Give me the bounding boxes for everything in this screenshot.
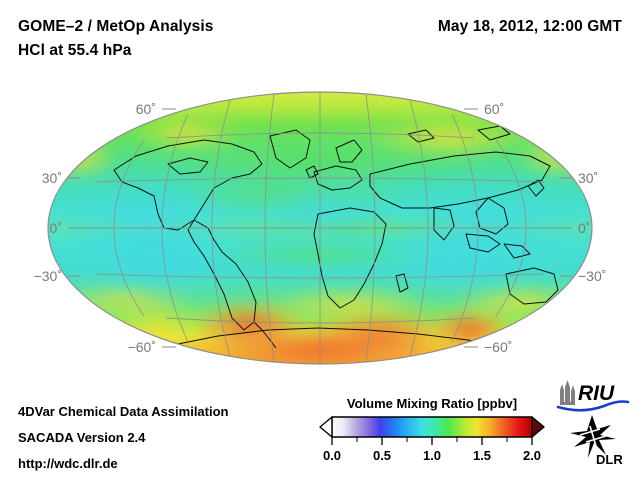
footer-url-link[interactable]: http://wdc.dlr.de: [18, 456, 118, 471]
figure-root: GOME–2 / MetOp Analysis HCl at 55.4 hPa …: [0, 0, 640, 480]
page-title: GOME–2 / MetOp Analysis: [18, 18, 214, 36]
lat-label-inner-60n-right: 60˚: [484, 101, 504, 117]
riu-logo: RIU: [556, 378, 630, 412]
lat-label-inner-60n: 60˚: [136, 101, 156, 117]
map-panel: 30˚ 0˚ −30˚ 30˚ 0˚ −30˚ 60˚ 60˚ −60˚ −60…: [18, 78, 622, 388]
hammer-projection-map: 30˚ 0˚ −30˚ 30˚ 0˚ −30˚ 60˚ 60˚ −60˚ −60…: [18, 78, 622, 388]
colorbar-ticks: [332, 437, 532, 445]
lat-label-inner-60s: −60˚: [128, 339, 156, 355]
lat-label-left-0: 0˚: [50, 220, 62, 236]
lat-label-inner-60s-right: −60˚: [484, 339, 512, 355]
colorbar-title: Volume Mixing Ratio [ppbv]: [318, 396, 546, 411]
page-subtitle: HCl at 55.4 hPa: [18, 42, 132, 60]
lat-label-right-m30: −30˚: [578, 268, 606, 284]
colorbar-tick-4: 2.0: [523, 448, 541, 463]
footer-version-label: SACADA Version 2.4: [18, 430, 145, 445]
colorbar-tick-2: 1.0: [423, 448, 441, 463]
colorbar-gradient: [318, 416, 546, 446]
colorbar-tick-0: 0.0: [323, 448, 341, 463]
datestamp-label: May 18, 2012, 12:00 GMT: [438, 18, 622, 36]
lat-label-right-0: 0˚: [578, 220, 590, 236]
riu-wordmark: RIU: [578, 382, 615, 405]
dlr-wordmark: DLR: [596, 452, 623, 467]
colorbar-tick-3: 1.5: [473, 448, 491, 463]
lat-label-left-30: 30˚: [42, 170, 62, 186]
lat-label-right-30: 30˚: [578, 170, 598, 186]
lat-label-left-m30: −30˚: [34, 268, 62, 284]
colorbar-tick-1: 0.5: [373, 448, 391, 463]
colorbar-under-arrow: [320, 417, 332, 437]
footer-assimilation-label: 4DVar Chemical Data Assimilation: [18, 404, 229, 419]
riu-cathedral-icon: [560, 380, 575, 405]
colorbar: Volume Mixing Ratio [ppbv]: [318, 396, 546, 468]
colorbar-over-arrow: [532, 417, 544, 437]
